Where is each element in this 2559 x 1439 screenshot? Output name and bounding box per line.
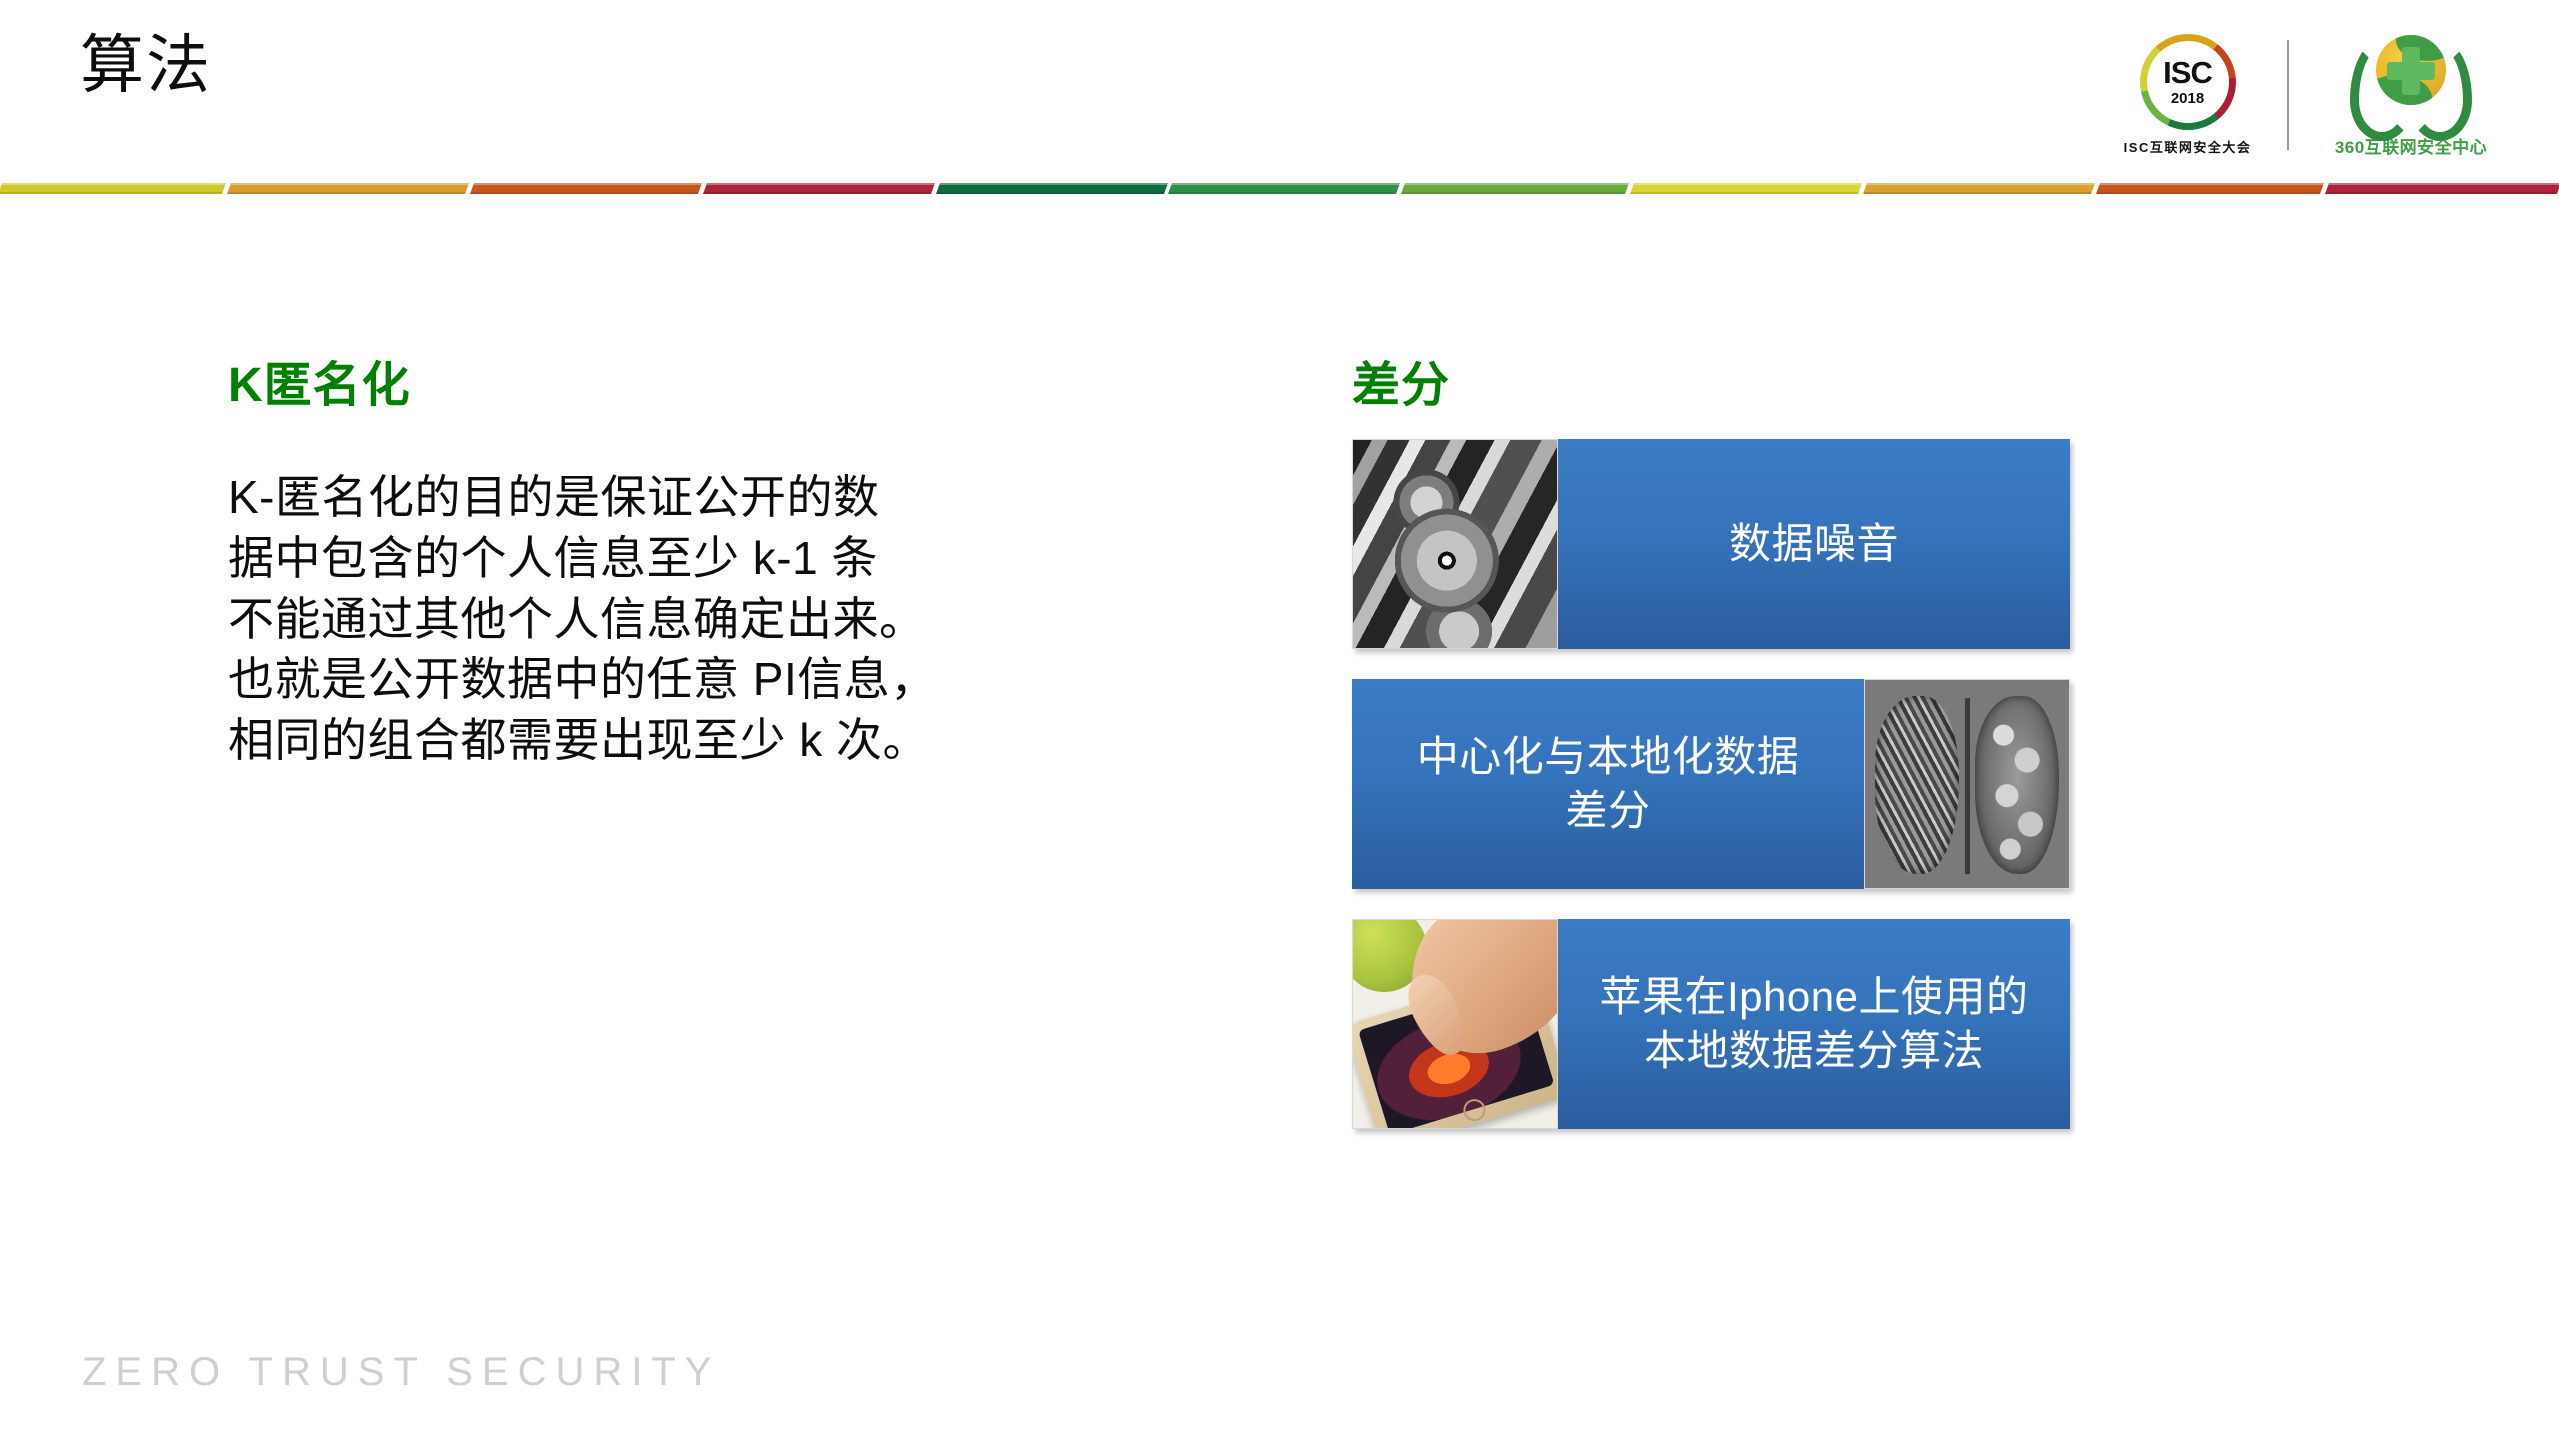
card-label-line-0: 苹果在Iphone上使用的: [1600, 970, 2029, 1024]
divider-segment-0: [0, 183, 226, 194]
divider-segment-4: [936, 183, 1168, 194]
isc-wordmark: ISC: [2163, 57, 2212, 88]
page-title: 算法: [80, 30, 212, 100]
isc-ring-icon: ISC 2018: [2140, 34, 2236, 130]
brand-360-caption: 360互联网安全中心: [2335, 133, 2487, 158]
divider-segment-6: [1401, 183, 1629, 194]
right-content-column: 差分 数据噪音中心化与本地化数据差分苹果在Iphone上使用的本地数据差分算法: [1352, 358, 2082, 1159]
left-body-paragraph: K-匿名化的目的是保证公开的数据中包含的个人信息至少 k-1 条不能通过其他个人…: [228, 467, 1108, 771]
card-label-panel: 中心化与本地化数据差分: [1352, 679, 1864, 889]
header-color-divider: [0, 183, 2559, 194]
left-section-heading: K匿名化: [228, 358, 1108, 413]
divider-segment-8: [1863, 183, 2095, 194]
gears-machinery-photo: [1353, 440, 1557, 648]
logo-area: ISC 2018 ISC互联网安全大会 360互联网安全中心: [2110, 22, 2511, 167]
presentation-slide: 算法 ISC 2018 ISC互联网安全大会 360互联网安全中心: [0, 0, 2559, 1439]
paragraph-line-4: 相同的组合都需要出现至少 k 次。: [228, 710, 1108, 771]
paragraph-line-1: 据中包含的个人信息至少 k-1 条: [228, 528, 1108, 589]
divider-segment-3: [703, 183, 935, 194]
left-content-column: K匿名化 K-匿名化的目的是保证公开的数据中包含的个人信息至少 k-1 条不能通…: [228, 358, 1108, 771]
divider-segment-5: [1168, 183, 1400, 194]
card-label-panel: 数据噪音: [1558, 439, 2070, 649]
divider-segment-1: [227, 183, 469, 194]
brain-circuit-photo: [1865, 680, 2069, 888]
concept-card[interactable]: 数据噪音: [1352, 439, 2070, 649]
divider-segment-2: [470, 183, 702, 194]
paragraph-line-2: 不能通过其他个人信息确定出来。: [228, 589, 1108, 650]
concept-card[interactable]: 中心化与本地化数据差分: [1352, 679, 2070, 889]
card-thumbnail: [1352, 919, 1558, 1129]
divider-segment-9: [2096, 183, 2324, 194]
isc-caption: ISC互联网安全大会: [2124, 137, 2252, 156]
isc-conference-logo: ISC 2018 ISC互联网安全大会: [2110, 34, 2265, 156]
cross-horizontal-icon: [2387, 62, 2435, 80]
card-label-panel: 苹果在Iphone上使用的本地数据差分算法: [1558, 919, 2070, 1129]
paragraph-line-3: 也就是公开数据中的任意 PI信息，: [228, 649, 1108, 710]
card-label-line-1: 本地数据差分算法: [1600, 1024, 2029, 1078]
footer-brand-text: ZERO TRUST SECURITY: [82, 1350, 720, 1395]
card-thumbnail: [1864, 679, 2070, 889]
card-label-line-0: 中心化与本地化数据: [1417, 730, 1800, 784]
divider-segment-7: [1630, 183, 1862, 194]
card-label-line-1: 差分: [1417, 784, 1800, 838]
isc-year: 2018: [2163, 91, 2212, 106]
hand-touching-iphone-photo: [1353, 920, 1557, 1128]
card-label-line-0: 数据噪音: [1729, 517, 1899, 571]
paragraph-line-0: K-匿名化的目的是保证公开的数: [228, 467, 1108, 528]
laurel-globe-cross-icon: [2350, 31, 2472, 127]
brand-360-logo: 360互联网安全中心: [2311, 31, 2511, 158]
right-section-heading: 差分: [1352, 358, 2082, 413]
logo-divider: [2287, 40, 2289, 150]
differential-privacy-card-list: 数据噪音中心化与本地化数据差分苹果在Iphone上使用的本地数据差分算法: [1352, 439, 2082, 1129]
concept-card[interactable]: 苹果在Iphone上使用的本地数据差分算法: [1352, 919, 2070, 1129]
card-thumbnail: [1352, 439, 1558, 649]
divider-segment-10: [2325, 183, 2559, 194]
